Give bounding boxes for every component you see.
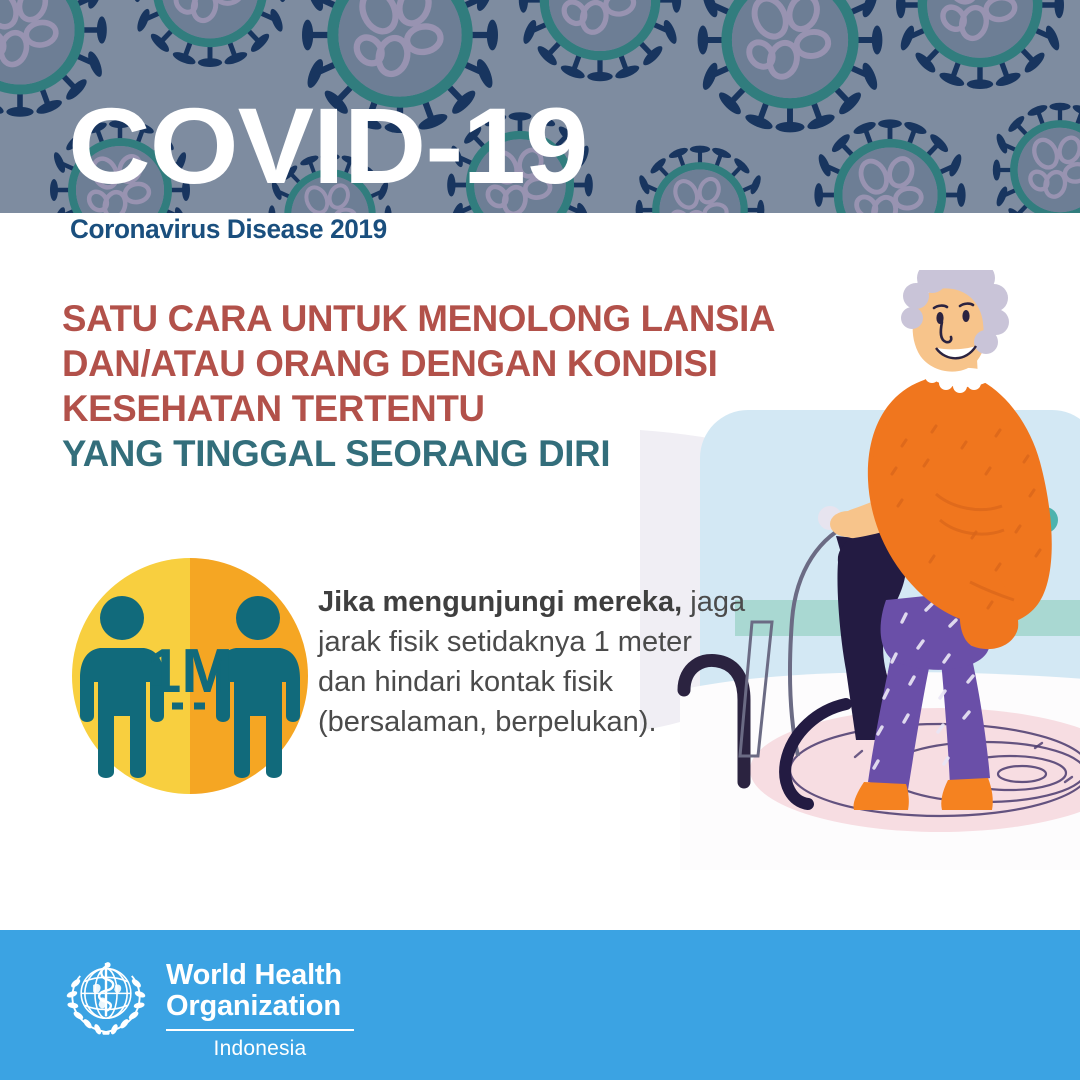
body-copy: Jika mengunjungi mereka, jaga jarak fisi…	[318, 582, 748, 742]
headline-line-4: YANG TINGGAL SEORANG DIRI	[62, 431, 775, 476]
who-logo: World Health Organization Indonesia	[60, 952, 354, 1061]
headline-line-2: DAN/ATAU ORANG DENGAN KONDISI	[62, 341, 775, 386]
covid-infographic-poster: COVID UPD COVID-19 Coronavirus Disease 2…	[0, 0, 1080, 1080]
headline-line-1: SATU CARA UNTUK MENOLONG LANSIA	[62, 296, 775, 341]
body-copy-lead: Jika mengunjungi mereka,	[318, 586, 682, 618]
covid-title: COVID-19	[68, 100, 588, 192]
physical-distancing-icon: 1M	[70, 556, 310, 796]
covid-subtitle: Coronavirus Disease 2019	[70, 214, 387, 245]
headline-line-3: KESEHATAN TERTENTU	[62, 386, 775, 431]
who-line-2: Organization	[166, 991, 354, 1022]
who-country: Indonesia	[166, 1037, 354, 1061]
who-wordmark: World Health Organization Indonesia	[166, 952, 354, 1061]
distance-label: 1M	[147, 637, 233, 706]
who-emblem	[60, 952, 152, 1044]
who-divider	[166, 1029, 354, 1031]
footer-bar: World Health Organization Indonesia	[0, 930, 1080, 1080]
headline: SATU CARA UNTUK MENOLONG LANSIA DAN/ATAU…	[62, 296, 782, 476]
who-line-1: World Health	[166, 960, 354, 991]
